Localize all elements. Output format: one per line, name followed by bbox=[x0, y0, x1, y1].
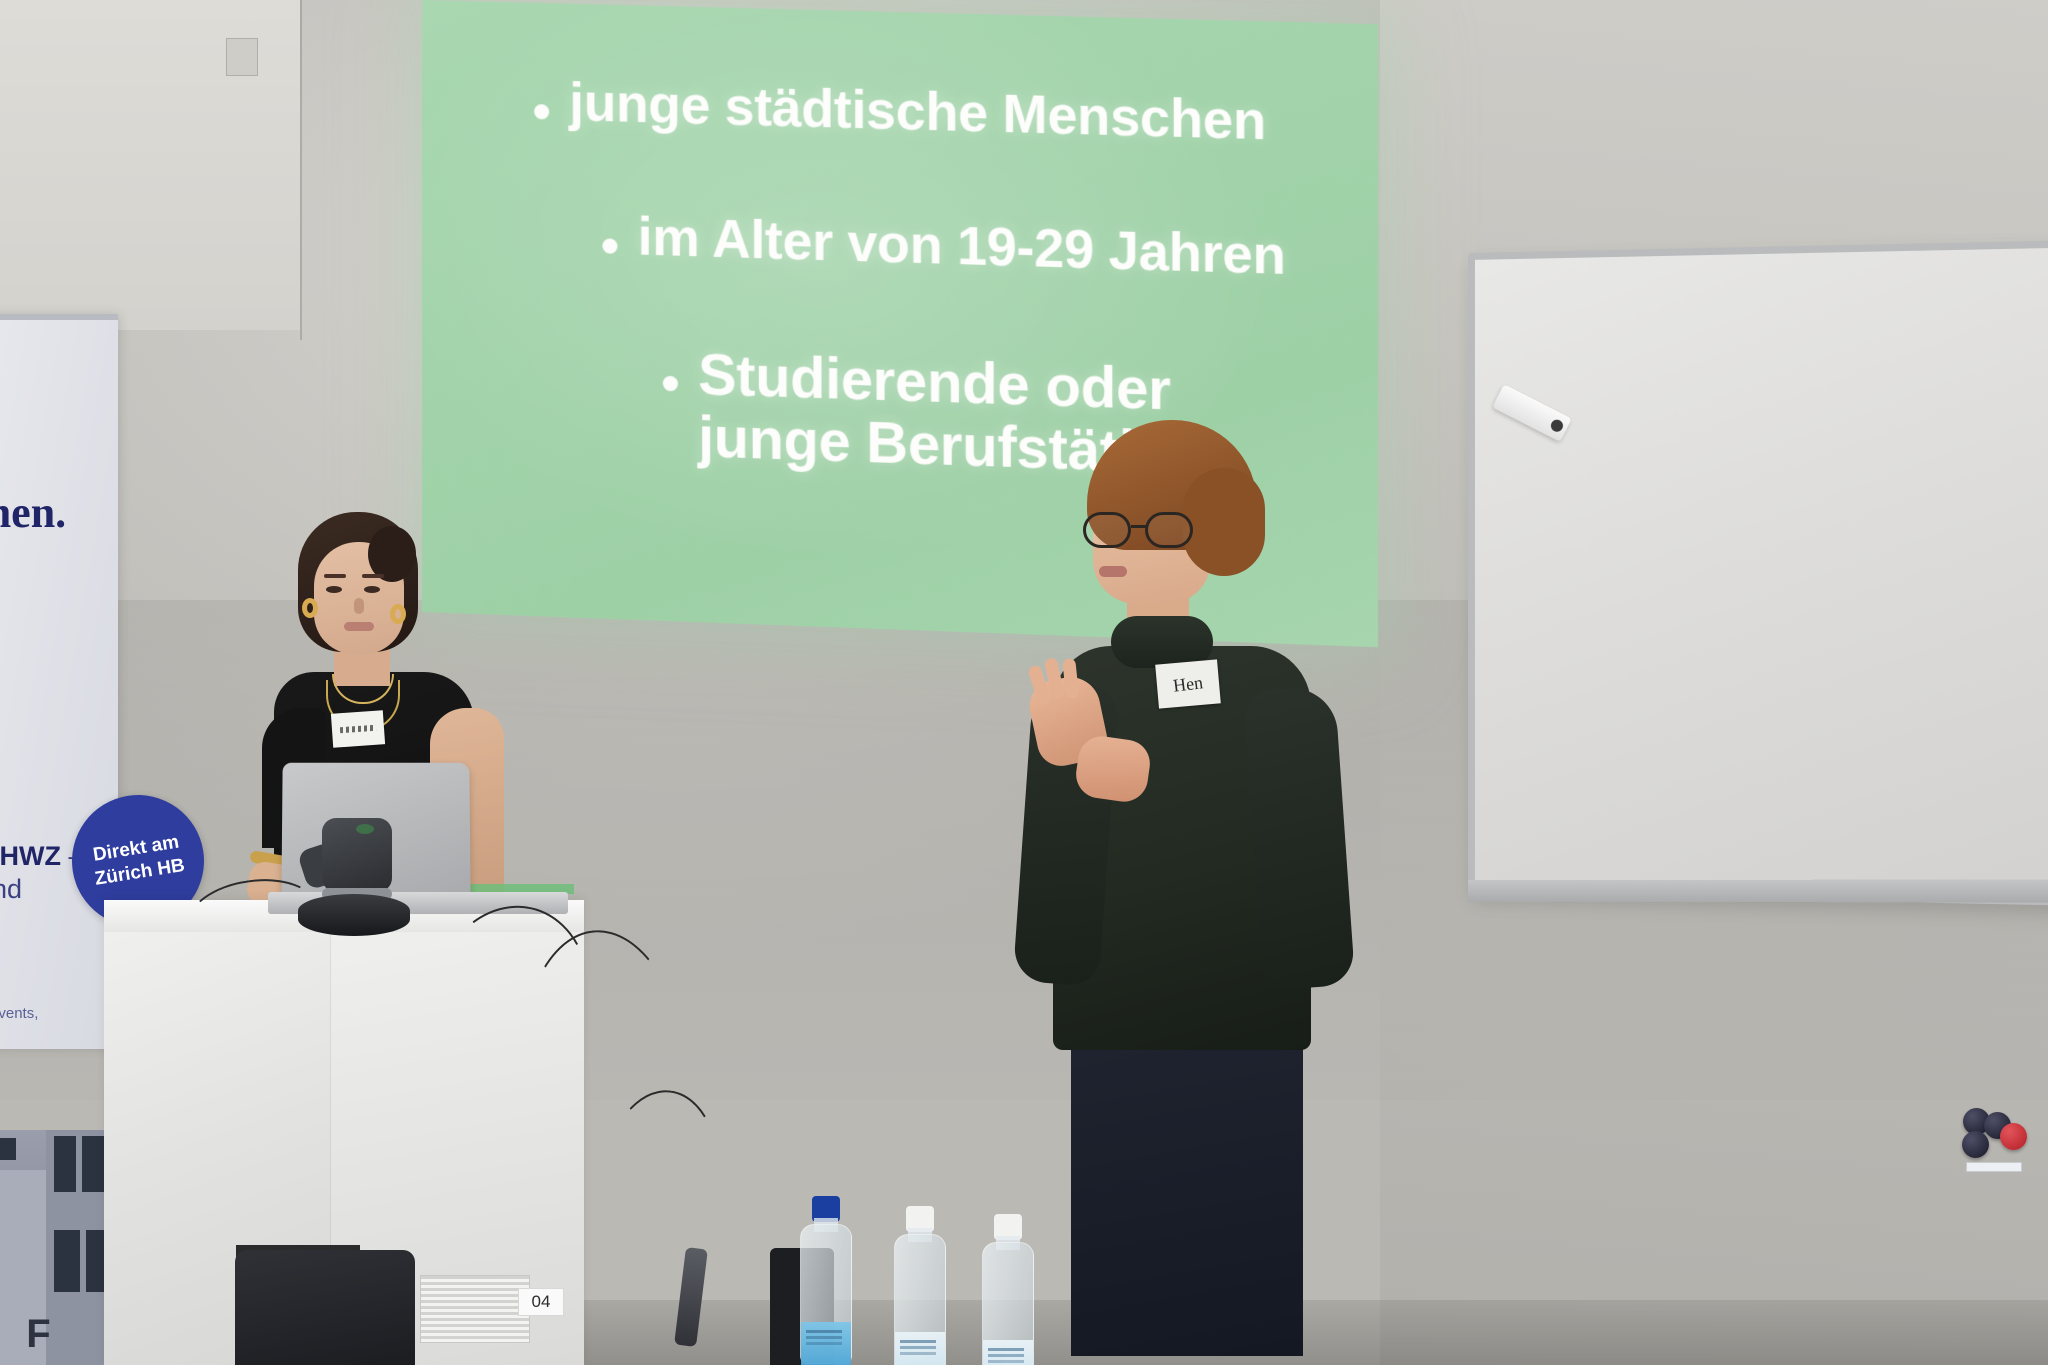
bullet-dot-icon bbox=[663, 375, 678, 391]
presenter-right-arm-right bbox=[1243, 685, 1356, 991]
podium-number-label: 04 bbox=[518, 1288, 564, 1316]
glasses-lens bbox=[1083, 512, 1131, 548]
screenshot-root: junge städtische Menschen im Alter von 1… bbox=[0, 0, 2048, 1365]
bottle-label bbox=[895, 1332, 945, 1365]
presenter-left-earring bbox=[390, 604, 406, 624]
banner-small-line-1: ür bbox=[0, 368, 118, 392]
slide-bullet-1-text: junge städtische Menschen bbox=[569, 74, 1266, 152]
presenter-left-mouth bbox=[344, 622, 374, 631]
presenter-left-name-badge bbox=[331, 710, 385, 748]
whiteboard-magnet-red bbox=[2000, 1123, 2027, 1150]
slide-bullet-2-text: im Alter von 19-29 Jahren bbox=[638, 209, 1286, 287]
bottle-label bbox=[801, 1322, 851, 1365]
whiteboard-brand-label bbox=[1966, 1162, 2022, 1172]
presenter-right-name-badge-text: Hen bbox=[1172, 672, 1204, 696]
presenter-left-eye bbox=[364, 586, 380, 593]
banner-headline-1: innen. bbox=[0, 489, 118, 537]
banner-photo-window bbox=[0, 1138, 16, 1160]
banner-photo-window bbox=[54, 1230, 80, 1292]
presenter-left-eye bbox=[326, 586, 342, 593]
presenter-right-legs bbox=[1071, 1026, 1303, 1356]
rollup-banner: ür rich innen. es n. der HWZ – iv und na… bbox=[0, 314, 118, 1049]
glasses-bridge bbox=[1131, 525, 1147, 528]
bottle-label-text bbox=[806, 1330, 842, 1333]
banner-sub-thin: iv und bbox=[0, 874, 22, 904]
presenter-left-nose bbox=[354, 598, 364, 614]
bottle-label-text bbox=[900, 1340, 936, 1343]
slide-bullet-2: im Alter von 19-29 Jahren bbox=[602, 208, 1328, 288]
banner-small-line-2: rich bbox=[0, 392, 118, 416]
whiteboard-pen-tray bbox=[1468, 880, 2048, 903]
bullet-dot-icon bbox=[534, 104, 549, 119]
slide-bullet-1: junge städtische Menschen bbox=[534, 73, 1328, 153]
name-badge-handwriting bbox=[340, 725, 376, 733]
presenter-right-mouth bbox=[1099, 566, 1127, 577]
banner-photo-window bbox=[54, 1136, 76, 1192]
presenter-right: Hen bbox=[1035, 420, 1365, 1050]
glasses-lens bbox=[1145, 512, 1193, 548]
wall-plate bbox=[226, 38, 258, 76]
banner-sub-bold: der HWZ bbox=[0, 841, 61, 871]
whiteboard bbox=[1468, 240, 2048, 906]
chair[interactable] bbox=[235, 1250, 415, 1365]
camera-lens-icon bbox=[356, 824, 374, 834]
podium-vent-grille bbox=[420, 1275, 530, 1343]
presenter-right-name-badge: Hen bbox=[1155, 659, 1221, 708]
presenter-left-earring bbox=[302, 598, 318, 618]
bullet-dot-icon bbox=[602, 238, 617, 254]
presenter-left-eyebrow bbox=[362, 574, 384, 578]
wall-column-edge bbox=[300, 0, 302, 340]
bottle-label bbox=[983, 1340, 1033, 1365]
bottle-label-text bbox=[988, 1348, 1024, 1351]
banner-photo-letters: O F bbox=[0, 1312, 65, 1357]
banner-headline-2: es bbox=[0, 611, 118, 659]
glasses-icon bbox=[1083, 512, 1215, 548]
banner-building-photo: O F bbox=[0, 1130, 118, 1365]
banner-footer: nare, Events, bbox=[0, 1003, 118, 1026]
whiteboard-magnet-dark bbox=[1962, 1131, 1989, 1158]
banner-content: ür rich innen. es n. der HWZ – iv und na… bbox=[0, 314, 118, 1049]
presenter-left-eyebrow bbox=[324, 574, 346, 578]
banner-headline-3: n. bbox=[0, 732, 118, 780]
banner-photo-window bbox=[82, 1136, 104, 1192]
